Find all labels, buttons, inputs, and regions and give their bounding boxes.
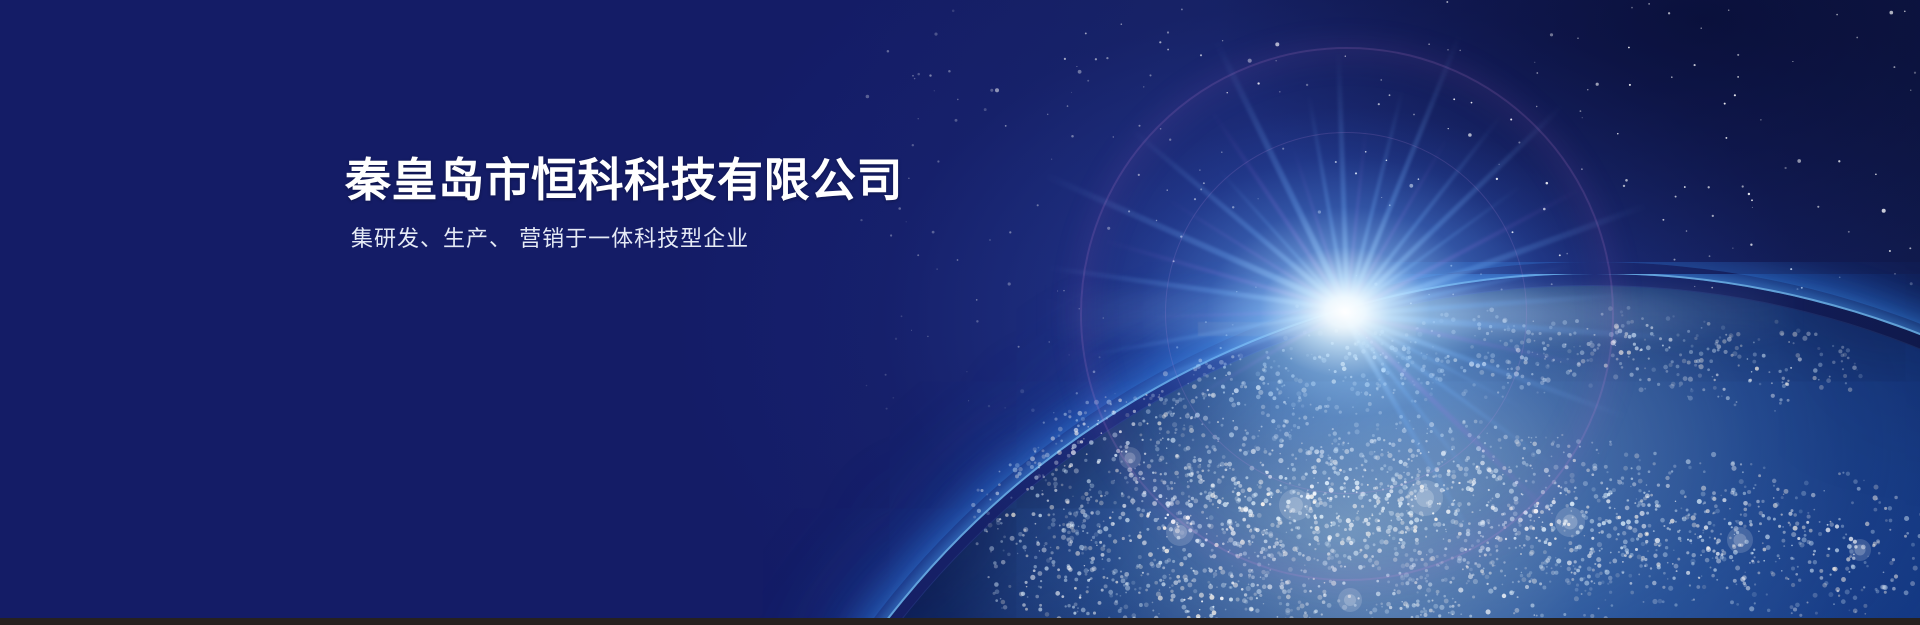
bottom-edge-strip bbox=[0, 618, 1920, 625]
company-subline: 集研发、生产、 营销于一体科技型企业 bbox=[351, 224, 903, 254]
company-headline: 秦皇岛市恒科科技有限公司 bbox=[345, 152, 903, 208]
hero-banner: 秦皇岛市恒科科技有限公司 集研发、生产、 营销于一体科技型企业 bbox=[0, 0, 1920, 625]
hero-text-block: 秦皇岛市恒科科技有限公司 集研发、生产、 营销于一体科技型企业 bbox=[345, 152, 903, 254]
